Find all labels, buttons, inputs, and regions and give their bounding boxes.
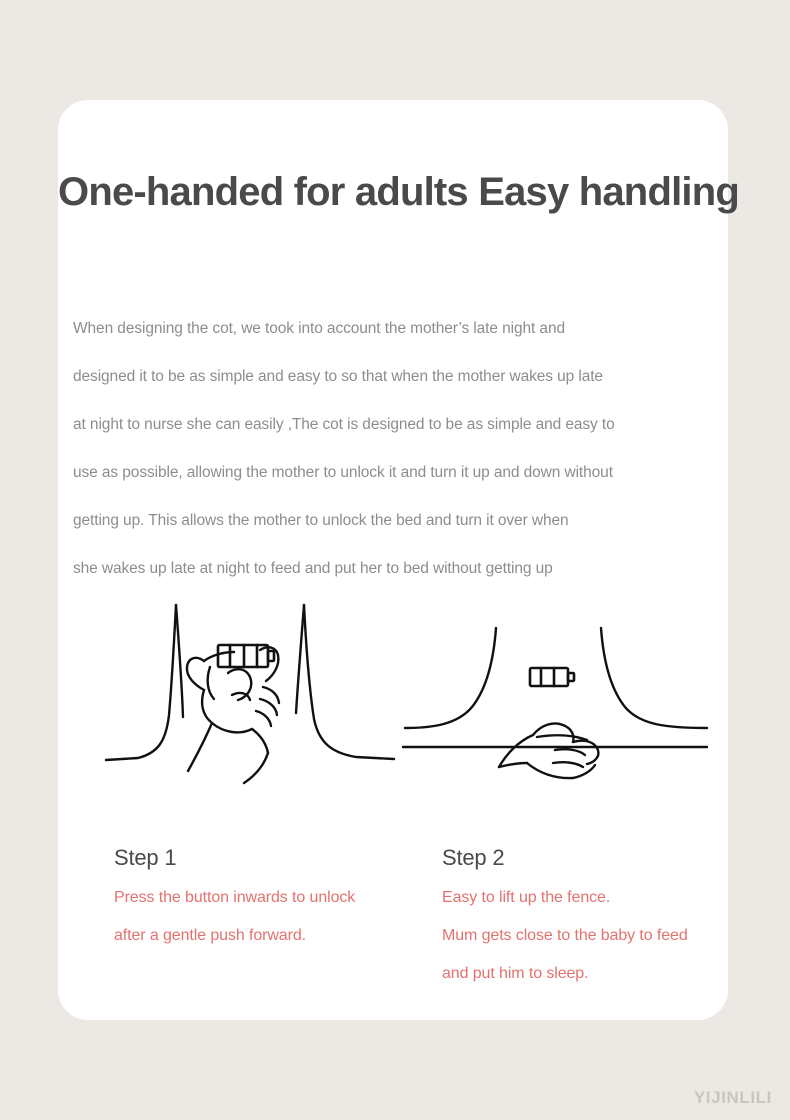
page-title: One-handed for adults Easy handling — [58, 166, 748, 218]
step-1-description: Press the button inwards to unlock after… — [114, 879, 444, 955]
step-line: Easy to lift up the fence. — [442, 879, 787, 917]
step-line: Press the button inwards to unlock — [114, 879, 444, 917]
step-2-title: Step 2 — [442, 843, 787, 873]
hand-lifting-fence-illustration — [395, 595, 715, 800]
steps-row: Step 1 Press the button inwards to unloc… — [58, 843, 748, 1003]
step-line: and put him to sleep. — [442, 955, 787, 993]
page-root: One-handed for adults Easy handling When… — [0, 0, 790, 1120]
description-paragraph: When designing the cot, we took into acc… — [73, 305, 745, 593]
step-1-title: Step 1 — [114, 843, 444, 873]
step-2-description: Easy to lift up the fence. Mum gets clos… — [442, 879, 787, 993]
watermark: YIJINLILI — [694, 1088, 772, 1108]
step-line: after a gentle push forward. — [114, 917, 444, 955]
paragraph-line: she wakes up late at night to feed and p… — [73, 545, 745, 593]
step-1-block: Step 1 Press the button inwards to unloc… — [114, 843, 444, 955]
hand-pressing-latch-illustration — [100, 595, 400, 800]
step-line: Mum gets close to the baby to feed — [442, 917, 787, 955]
step-2-block: Step 2 Easy to lift up the fence. Mum ge… — [442, 843, 787, 993]
paragraph-line: getting up. This allows the mother to un… — [73, 497, 745, 545]
paragraph-line: use as possible, allowing the mother to … — [73, 449, 745, 497]
paragraph-line: designed it to be as simple and easy to … — [73, 353, 745, 401]
paragraph-line: When designing the cot, we took into acc… — [73, 305, 745, 353]
paragraph-line: at night to nurse she can easily ,The co… — [73, 401, 745, 449]
illustration-row — [58, 595, 728, 800]
